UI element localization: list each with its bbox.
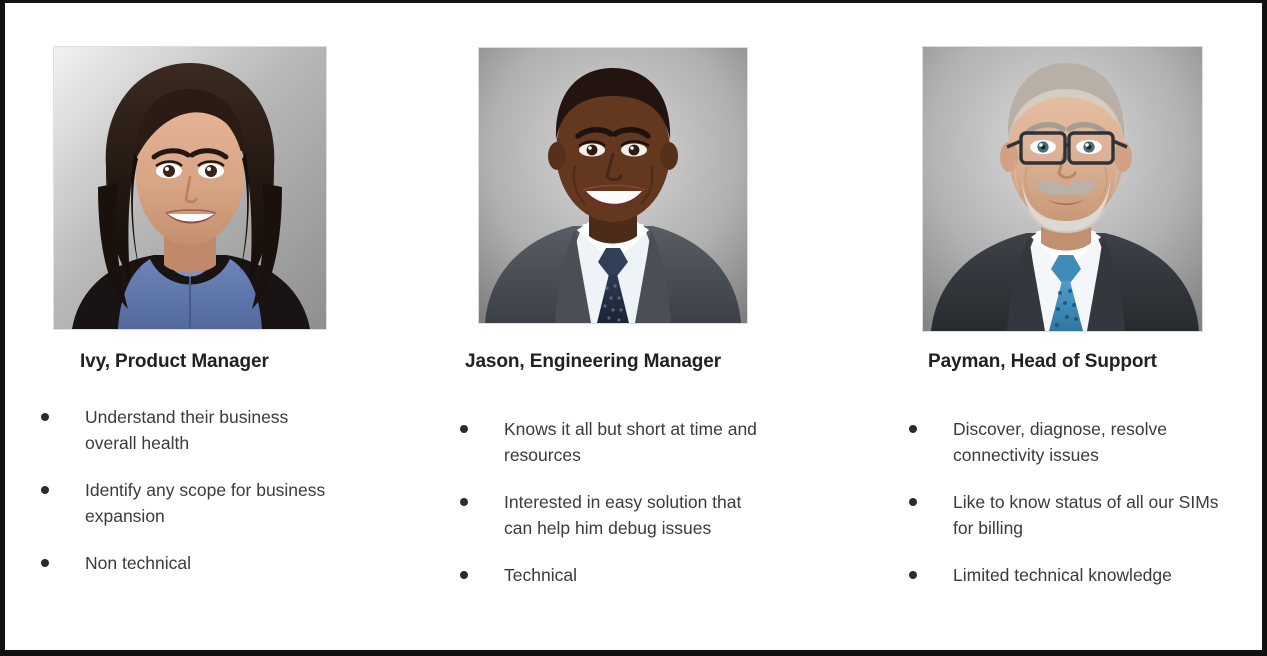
bullet-dot-icon bbox=[41, 413, 49, 421]
headshot-woman-icon bbox=[54, 47, 326, 329]
list-item: Discover, diagnose, resolve connectivity… bbox=[909, 416, 1229, 468]
bullet-text: Limited technical knowledge bbox=[953, 562, 1229, 588]
headshot-man-icon bbox=[479, 48, 747, 323]
bullet-text: Understand their business overall health bbox=[85, 404, 341, 456]
bullet-dot-icon bbox=[460, 425, 468, 433]
bullet-dot-icon bbox=[460, 498, 468, 506]
persona-photo-jason bbox=[478, 47, 748, 324]
persona-name-jason: Jason, Engineering Manager bbox=[465, 351, 721, 373]
persona-photo-ivy bbox=[53, 46, 327, 330]
list-item: Non technical bbox=[41, 550, 341, 576]
bullet-dot-icon bbox=[909, 498, 917, 506]
persona-name-ivy: Ivy, Product Manager bbox=[80, 351, 269, 373]
bullet-dot-icon bbox=[41, 486, 49, 494]
persona-bullets-ivy: Understand their business overall health… bbox=[41, 404, 341, 576]
bullet-text: Technical bbox=[504, 562, 762, 588]
bullet-text: Discover, diagnose, resolve connectivity… bbox=[953, 416, 1229, 468]
persona-bullets-jason: Knows it all but short at time and resou… bbox=[460, 416, 762, 588]
bullet-text: Like to know status of all our SIMs for … bbox=[953, 489, 1229, 541]
persona-columns: Ivy, Product Manager Understand their bu… bbox=[0, 0, 1267, 656]
list-item: Like to know status of all our SIMs for … bbox=[909, 489, 1229, 541]
bullet-text: Interested in easy solution that can hel… bbox=[504, 489, 762, 541]
list-item: Understand their business overall health bbox=[41, 404, 341, 456]
persona-slide: Ivy, Product Manager Understand their bu… bbox=[0, 0, 1267, 656]
persona-name-payman: Payman, Head of Support bbox=[928, 351, 1157, 373]
list-item: Technical bbox=[460, 562, 762, 588]
persona-photo-payman bbox=[922, 46, 1203, 332]
headshot-older-man-icon bbox=[923, 47, 1202, 331]
bullet-dot-icon bbox=[460, 571, 468, 579]
list-item: Limited technical knowledge bbox=[909, 562, 1229, 588]
bullet-dot-icon bbox=[909, 425, 917, 433]
persona-bullets-payman: Discover, diagnose, resolve connectivity… bbox=[909, 416, 1229, 588]
list-item: Identify any scope for business expansio… bbox=[41, 477, 341, 529]
bullet-dot-icon bbox=[909, 571, 917, 579]
list-item: Knows it all but short at time and resou… bbox=[460, 416, 762, 468]
bullet-text: Non technical bbox=[85, 550, 341, 576]
bullet-text: Identify any scope for business expansio… bbox=[85, 477, 341, 529]
bullet-text: Knows it all but short at time and resou… bbox=[504, 416, 762, 468]
bullet-dot-icon bbox=[41, 559, 49, 567]
list-item: Interested in easy solution that can hel… bbox=[460, 489, 762, 541]
